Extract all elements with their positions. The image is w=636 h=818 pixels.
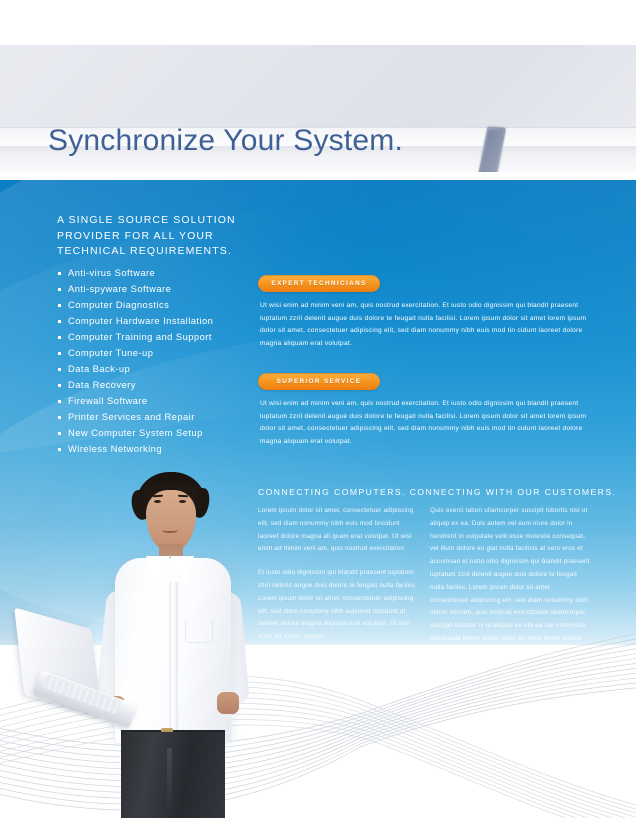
feature-body-superior-service: Ut wisi enim ad minim veni am, quis nost… — [260, 398, 588, 448]
person-mouth — [162, 528, 178, 533]
badge-expert-technicians: EXPERT TECHNICIANS — [258, 275, 380, 292]
person-eye-right — [179, 500, 186, 503]
list-item: Computer Training and Support — [57, 329, 267, 345]
lead-statement: A SINGLE SOURCE SOLUTION PROVIDER FOR AL… — [57, 213, 257, 260]
held-laptop-icon — [15, 620, 145, 735]
person-eye-left — [154, 500, 161, 503]
list-item: Anti-spyware Software — [57, 281, 267, 297]
person-shirt-pocket — [185, 620, 213, 643]
badge-superior-service: SUPERIOR SERVICE — [258, 373, 380, 390]
paragraph: Quis exerci tation ullamcorper suscipit … — [430, 505, 590, 646]
list-item: Data Back-up — [57, 361, 267, 377]
laptop-screen — [475, 126, 506, 172]
list-item: Wireless Networking — [57, 441, 267, 457]
person-photo — [95, 470, 295, 818]
lower-column-right: Quis exerci tation ullamcorper suscipit … — [430, 505, 590, 657]
list-item: Computer Tune-up — [57, 345, 267, 361]
list-item: Printer Services and Repair — [57, 409, 267, 425]
list-item: Data Recovery — [57, 377, 267, 393]
person-jeans — [121, 732, 225, 818]
list-item: Anti-virus Software — [57, 265, 267, 281]
list-item: New Computer System Setup — [57, 425, 267, 441]
header-wall-backdrop — [0, 45, 636, 127]
section-heading-connecting: CONNECTING COMPUTERS. CONNECTING WITH OU… — [258, 487, 616, 497]
person-shirt-placket — [169, 582, 178, 742]
list-item: Computer Hardware Installation — [57, 313, 267, 329]
flyer-page: Synchronize Your System. A SINGLE SOURCE… — [0, 0, 636, 818]
page-title: Synchronize Your System. — [48, 124, 403, 158]
services-list: Anti-virus Software Anti-spyware Softwar… — [57, 265, 267, 457]
person-hand-right — [217, 692, 239, 714]
list-item: Firewall Software — [57, 393, 267, 409]
list-item: Computer Diagnostics — [57, 297, 267, 313]
feature-body-expert-technicians: Ut wisi enim ad minim veni am, quis nost… — [260, 300, 588, 350]
person-face — [146, 490, 196, 552]
laptop-icon — [475, 129, 585, 172]
